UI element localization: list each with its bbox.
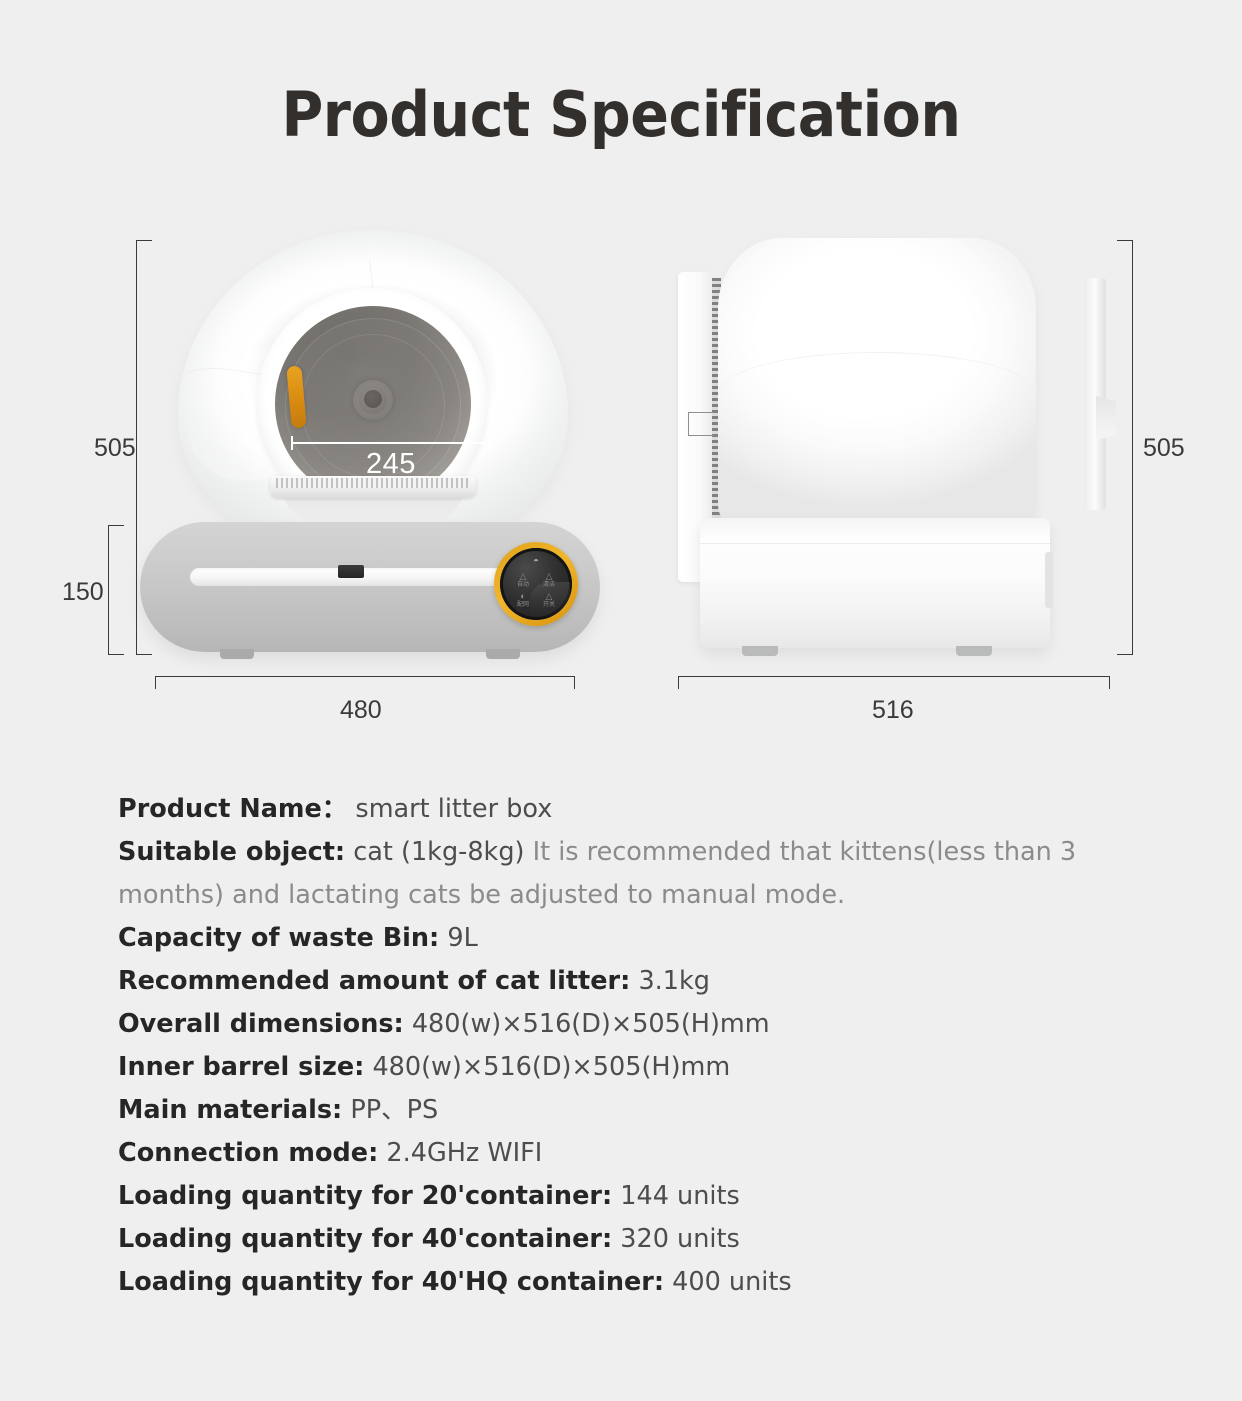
control-panel-face[interactable]: ◓ △ 自动 △ 清洁 ◐ 配网 △ 开关: [500, 548, 572, 620]
spec-row-connection-mode: Connection mode: 2.4GHz WIFI: [118, 1132, 1118, 1175]
front-foot-right: [486, 649, 520, 659]
spec-label: Product Name：: [118, 794, 347, 824]
spec-label: Capacity of waste Bin:: [118, 923, 439, 953]
front-base: ◓ △ 自动 △ 清洁 ◐ 配网 △ 开关: [140, 522, 600, 652]
drum-hub: [353, 380, 393, 420]
spec-label: Main materials:: [118, 1095, 342, 1125]
spec-value: 2.4GHz WIFI: [386, 1138, 542, 1168]
side-rail-right: [1084, 278, 1106, 510]
side-tab-right: [1096, 396, 1116, 440]
spec-value: PP、PS: [350, 1095, 438, 1125]
control-button-network[interactable]: ◐ 配网: [513, 592, 533, 608]
front-width-bracket: [155, 676, 575, 689]
spec-row-main-materials: Main materials: PP、PS: [118, 1089, 1118, 1132]
spec-row-loading-40: Loading quantity for 40'container: 320 u…: [118, 1218, 1118, 1261]
spec-value: smart litter box: [355, 794, 552, 824]
control-button-power[interactable]: △ 开关: [539, 592, 559, 608]
side-drawer-lip: [700, 518, 1050, 544]
front-height-bracket: [136, 240, 152, 655]
spec-label: Loading quantity for 40'container:: [118, 1224, 612, 1254]
clean-icon: △: [539, 572, 559, 581]
side-foot-right: [956, 646, 992, 656]
side-foot-left: [742, 646, 778, 656]
opening-dimension-label: 245: [291, 448, 491, 481]
spec-value: 480(w)×516(D)×505(H)mm: [372, 1052, 730, 1082]
spec-row-suitable-object: Suitable object: cat (1kg-8kg) It is rec…: [118, 831, 1118, 917]
control-button-power-label: 开关: [543, 602, 555, 608]
front-base-height-label: 150: [62, 578, 104, 607]
side-latch-notch: [688, 412, 714, 436]
side-height-bracket: [1117, 240, 1133, 655]
spec-value: 144 units: [620, 1181, 739, 1211]
sensor-badge: [338, 565, 364, 578]
side-drawer: [700, 518, 1050, 648]
control-button-auto[interactable]: △ 自动: [513, 572, 533, 588]
control-button-clean[interactable]: △ 清洁: [539, 572, 559, 588]
control-button-clean-label: 清洁: [543, 582, 555, 588]
spec-value: 320 units: [620, 1224, 739, 1254]
spec-row-overall-dimensions: Overall dimensions: 480(w)×516(D)×505(H)…: [118, 1003, 1118, 1046]
spec-row-loading-20: Loading quantity for 20'container: 144 u…: [118, 1175, 1118, 1218]
side-view: [670, 230, 1120, 670]
spec-value: 480(w)×516(D)×505(H)mm: [412, 1009, 770, 1039]
spec-label: Loading quantity for 20'container:: [118, 1181, 612, 1211]
control-panel[interactable]: ◓ △ 自动 △ 清洁 ◐ 配网 △ 开关: [494, 542, 578, 626]
specification-list: Product Name： smart litter box Suitable …: [118, 788, 1118, 1304]
front-foot-left: [220, 649, 254, 659]
front-width-label: 480: [340, 696, 382, 725]
spec-row-loading-40hq: Loading quantity for 40'HQ container: 40…: [118, 1261, 1118, 1304]
spec-row-waste-bin-capacity: Capacity of waste Bin: 9L: [118, 917, 1118, 960]
control-button-network-label: 配网: [517, 602, 529, 608]
spec-value: cat (1kg-8kg): [353, 837, 524, 867]
spec-value: 400 units: [672, 1267, 791, 1297]
side-depth-label: 516: [872, 696, 914, 725]
control-button-auto-label: 自动: [517, 582, 529, 588]
opening-dimension: 245: [291, 436, 491, 480]
spec-value: 9L: [447, 923, 477, 953]
spec-label: Connection mode:: [118, 1138, 378, 1168]
front-base-height-bracket: [108, 525, 124, 655]
front-dome: 245: [178, 230, 568, 560]
power-icon: △: [539, 592, 559, 601]
spec-label: Suitable object:: [118, 837, 345, 867]
wifi-icon: ◓: [526, 557, 546, 567]
side-drawer-knob: [1045, 552, 1053, 608]
front-height-label: 505: [94, 434, 136, 463]
side-height-label: 505: [1143, 434, 1185, 463]
spec-row-product-name: Product Name： smart litter box: [118, 788, 1118, 831]
spec-row-inner-barrel-size: Inner barrel size: 480(w)×516(D)×505(H)m…: [118, 1046, 1118, 1089]
spec-label: Inner barrel size:: [118, 1052, 364, 1082]
spec-value: 3.1kg: [638, 966, 710, 996]
spec-label: Loading quantity for 40'HQ container:: [118, 1267, 664, 1297]
front-view: 245 ◓ △ 自动 △ 清洁: [140, 230, 600, 670]
signal-icon: ◐: [513, 592, 533, 601]
side-depth-bracket: [678, 676, 1110, 689]
spec-label: Recommended amount of cat litter:: [118, 966, 630, 996]
cat-icon: △: [513, 572, 533, 581]
dimension-line: [291, 442, 491, 444]
product-diagram: 245 ◓ △ 自动 △ 清洁: [0, 0, 1242, 760]
spec-label: Overall dimensions:: [118, 1009, 404, 1039]
spec-row-litter-amount: Recommended amount of cat litter: 3.1kg: [118, 960, 1118, 1003]
